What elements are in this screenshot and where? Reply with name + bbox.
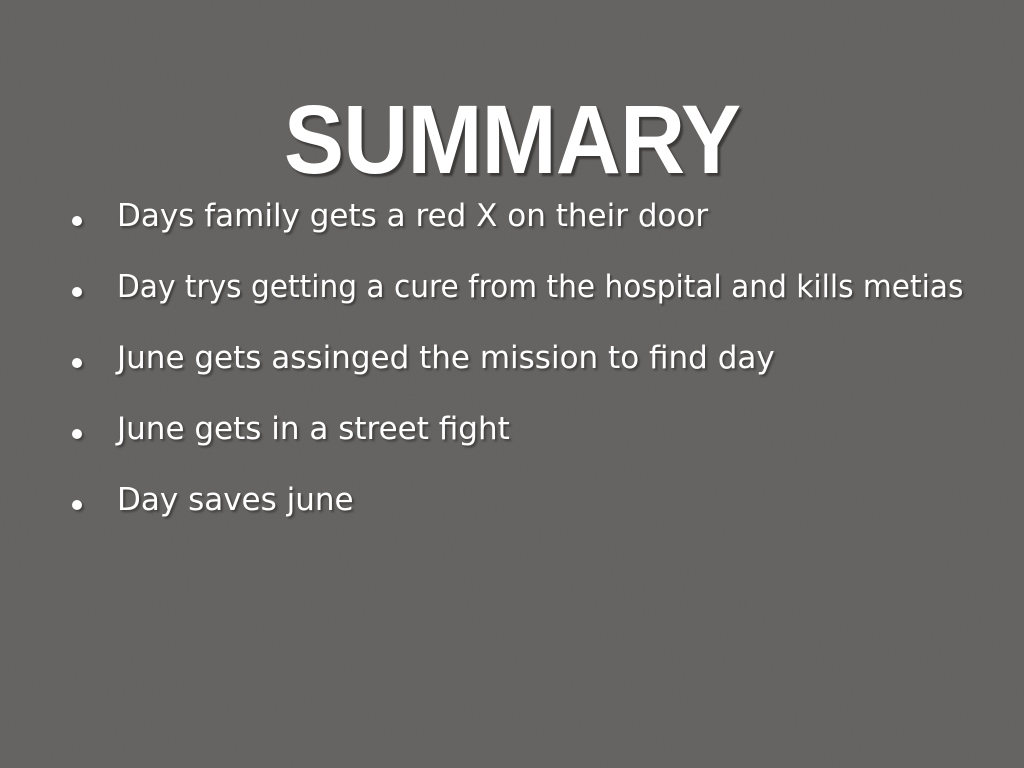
slide-title: SUMMARY [36, 91, 988, 188]
bullet-text: June gets in a street fight [117, 409, 510, 449]
list-item: Days family gets a red X on their door [64, 196, 1008, 267]
bullet-dot-icon [72, 500, 82, 510]
list-item: June gets assinged the mission to find d… [64, 338, 1008, 409]
bullet-dot-icon [72, 287, 82, 297]
bullet-text: June gets assinged the mission to find d… [117, 338, 775, 378]
bullet-text: Day saves june [117, 480, 354, 520]
bullet-list: Days family gets a red X on their door D… [64, 196, 1008, 551]
list-item: June gets in a street fight [64, 409, 1008, 480]
bullet-dot-icon [72, 216, 82, 226]
bullet-dot-icon [72, 429, 82, 439]
bullet-text: Days family gets a red X on their door [117, 196, 708, 236]
list-item: Day saves june [64, 480, 1008, 551]
list-item: Day trys getting a cure from the hospita… [64, 267, 1008, 338]
bullet-text: Day trys getting a cure from the hospita… [117, 267, 963, 307]
presentation-slide: SUMMARY Days family gets a red X on thei… [0, 0, 1024, 768]
bullet-dot-icon [72, 358, 82, 368]
slide-content: SUMMARY Days family gets a red X on thei… [0, 0, 1024, 768]
